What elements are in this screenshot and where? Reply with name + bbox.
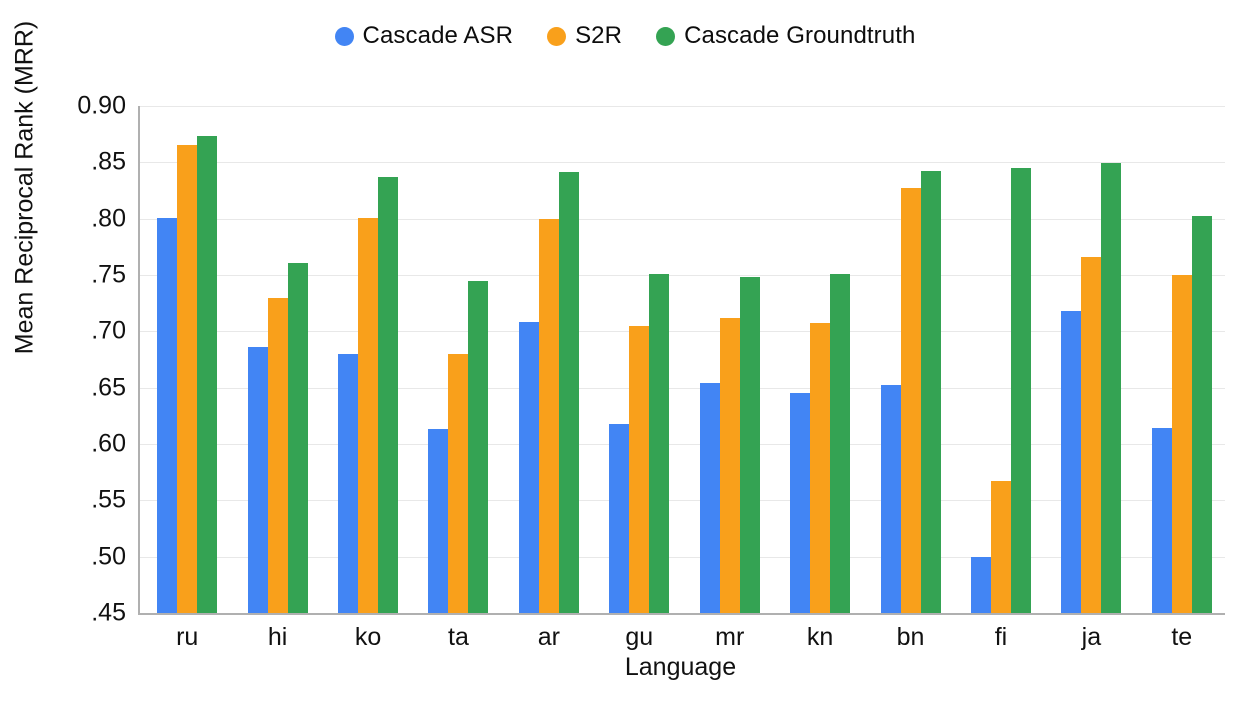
y-axis-tick-label: .75 bbox=[91, 263, 126, 288]
y-axis-tick-label: .70 bbox=[91, 319, 126, 344]
bar-ta-1[interactable] bbox=[448, 354, 468, 613]
bar-bn-2[interactable] bbox=[921, 171, 941, 613]
bar-bn-0[interactable] bbox=[881, 385, 901, 613]
y-axis-tick-label: .65 bbox=[91, 375, 126, 400]
y-axis-title: Mean Reciprocal Rank (MRR) bbox=[13, 0, 38, 438]
bar-group-ko bbox=[338, 106, 398, 613]
y-axis-tick-label: .50 bbox=[91, 544, 126, 569]
bar-ta-2[interactable] bbox=[468, 281, 488, 613]
bar-te-2[interactable] bbox=[1192, 216, 1212, 613]
bar-ru-0[interactable] bbox=[157, 218, 177, 613]
bar-ar-1[interactable] bbox=[539, 219, 559, 613]
bar-group-fi bbox=[971, 106, 1031, 613]
bar-gu-2[interactable] bbox=[649, 274, 669, 613]
bar-group-ru bbox=[157, 106, 217, 613]
legend-swatch-icon bbox=[656, 27, 675, 46]
bar-gu-1[interactable] bbox=[629, 326, 649, 613]
bar-group-bn bbox=[881, 106, 941, 613]
bar-kn-0[interactable] bbox=[790, 393, 810, 613]
legend-item-2[interactable]: Cascade Groundtruth bbox=[656, 24, 915, 48]
legend-swatch-icon bbox=[547, 27, 566, 46]
x-axis-tick-label-te: te bbox=[1122, 625, 1242, 650]
bar-hi-0[interactable] bbox=[248, 347, 268, 613]
bar-hi-2[interactable] bbox=[288, 263, 308, 613]
bar-mr-1[interactable] bbox=[720, 318, 740, 613]
bar-ja-0[interactable] bbox=[1061, 311, 1081, 613]
bar-ar-2[interactable] bbox=[559, 172, 579, 613]
bar-gu-0[interactable] bbox=[609, 424, 629, 613]
bar-ru-2[interactable] bbox=[197, 136, 217, 613]
bar-mr-2[interactable] bbox=[740, 277, 760, 613]
legend-swatch-icon bbox=[335, 27, 354, 46]
bar-bn-1[interactable] bbox=[901, 188, 921, 613]
bar-ko-0[interactable] bbox=[338, 354, 358, 613]
x-axis-title: Language bbox=[138, 655, 1223, 680]
bar-hi-1[interactable] bbox=[268, 298, 288, 613]
legend-label: Cascade ASR bbox=[363, 24, 514, 48]
bar-group-ta bbox=[428, 106, 488, 613]
bar-kn-1[interactable] bbox=[810, 323, 830, 613]
bar-mr-0[interactable] bbox=[700, 383, 720, 613]
bar-ko-1[interactable] bbox=[358, 218, 378, 613]
bar-fi-1[interactable] bbox=[991, 481, 1011, 613]
legend-label: Cascade Groundtruth bbox=[684, 24, 915, 48]
legend-item-0[interactable]: Cascade ASR bbox=[335, 24, 514, 48]
bar-ru-1[interactable] bbox=[177, 145, 197, 613]
bar-te-0[interactable] bbox=[1152, 428, 1172, 613]
bar-group-ar bbox=[519, 106, 579, 613]
bar-group-hi bbox=[248, 106, 308, 613]
bar-group-kn bbox=[790, 106, 850, 613]
bar-ta-0[interactable] bbox=[428, 429, 448, 613]
bar-te-1[interactable] bbox=[1172, 275, 1192, 613]
bar-fi-2[interactable] bbox=[1011, 168, 1031, 613]
chart-figure: Cascade ASRS2RCascade Groundtruth 0.90.8… bbox=[0, 0, 1250, 714]
legend-item-1[interactable]: S2R bbox=[547, 24, 622, 48]
y-axis-tick-label: 0.90 bbox=[77, 94, 126, 119]
y-axis-tick-label: .85 bbox=[91, 150, 126, 175]
bar-ko-2[interactable] bbox=[378, 177, 398, 613]
bar-kn-2[interactable] bbox=[830, 274, 850, 613]
legend-label: S2R bbox=[575, 24, 622, 48]
chart-legend: Cascade ASRS2RCascade Groundtruth bbox=[0, 24, 1250, 48]
plot-area: ruhikotaargumrknbnfijate bbox=[138, 106, 1225, 615]
y-axis-tick-label: .45 bbox=[91, 601, 126, 626]
bar-ar-0[interactable] bbox=[519, 322, 539, 613]
bar-group-ja bbox=[1061, 106, 1121, 613]
y-axis-tick-label: .60 bbox=[91, 432, 126, 457]
bar-ja-2[interactable] bbox=[1101, 163, 1121, 613]
bar-ja-1[interactable] bbox=[1081, 257, 1101, 613]
y-axis-tick-label: .55 bbox=[91, 488, 126, 513]
bar-group-te bbox=[1152, 106, 1212, 613]
y-axis-tick-label: .80 bbox=[91, 206, 126, 231]
bar-fi-0[interactable] bbox=[971, 557, 991, 613]
bar-group-gu bbox=[609, 106, 669, 613]
bar-group-mr bbox=[700, 106, 760, 613]
